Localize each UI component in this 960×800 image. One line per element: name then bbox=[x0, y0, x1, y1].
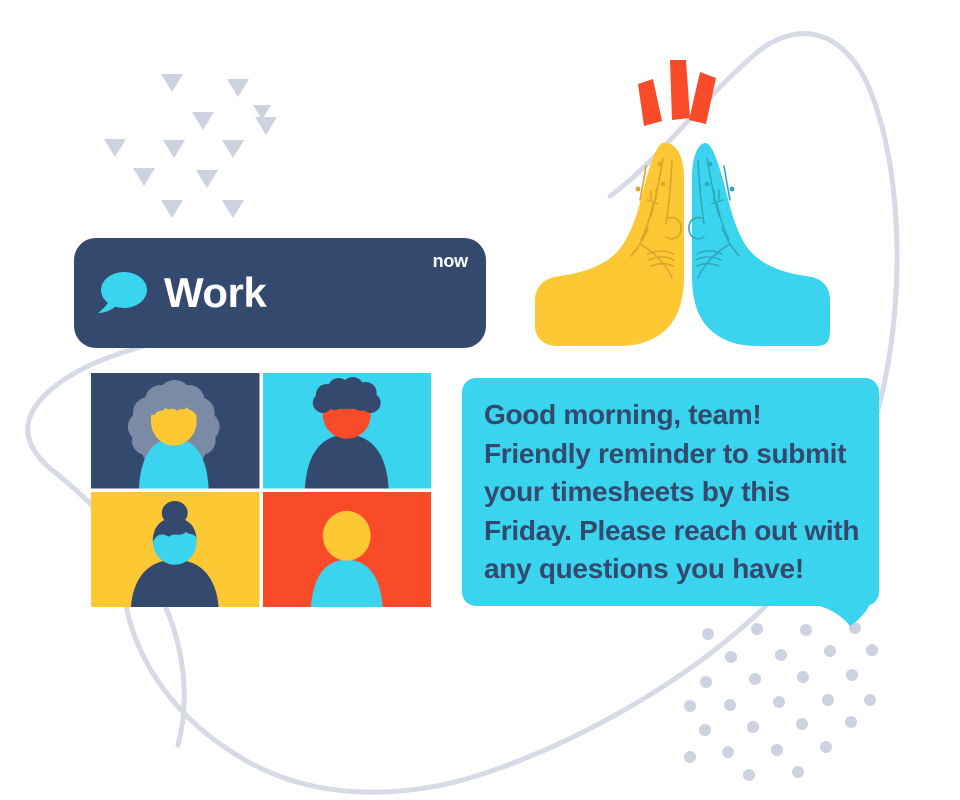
dot bbox=[775, 649, 787, 661]
high-five-hands bbox=[520, 58, 830, 350]
right-hand-icon bbox=[689, 143, 830, 346]
dot bbox=[797, 671, 809, 683]
chevron-icon bbox=[192, 112, 214, 130]
dot bbox=[700, 676, 712, 688]
knuckle-dot bbox=[705, 182, 709, 186]
chevron-icon bbox=[222, 140, 244, 158]
dot bbox=[773, 696, 785, 708]
dot bbox=[749, 673, 761, 685]
chevron-icon bbox=[196, 170, 218, 188]
message-bubble-tail bbox=[812, 580, 882, 628]
notification-timestamp: now bbox=[433, 251, 468, 272]
impact-mark-center bbox=[670, 60, 690, 120]
dot bbox=[845, 716, 857, 728]
chevron-icon bbox=[161, 200, 183, 218]
chevron-cluster-top-left bbox=[104, 74, 277, 218]
dot bbox=[722, 746, 734, 758]
notification-app-name: Work bbox=[164, 264, 266, 322]
dot bbox=[864, 694, 876, 706]
notification-bar[interactable]: Work now bbox=[74, 238, 486, 348]
knuckle-dot bbox=[658, 162, 662, 166]
video-tile-bottom-left[interactable] bbox=[91, 492, 260, 608]
video-tile-top-left[interactable] bbox=[91, 373, 260, 489]
dot bbox=[743, 769, 755, 781]
dot bbox=[725, 651, 737, 663]
knuckle-dot bbox=[636, 187, 641, 192]
dot bbox=[866, 644, 878, 656]
dot bbox=[684, 751, 696, 763]
dot bbox=[699, 724, 711, 736]
dot bbox=[824, 645, 836, 657]
video-tile-bottom-right[interactable] bbox=[263, 492, 432, 608]
dot bbox=[747, 721, 759, 733]
illustration-canvas: Work now bbox=[0, 0, 960, 800]
dot bbox=[684, 700, 696, 712]
hair-bun bbox=[162, 500, 188, 524]
knuckle-dot bbox=[708, 162, 712, 166]
message-text: Good morning, team! Friendly reminder to… bbox=[484, 396, 866, 589]
message-bubble[interactable]: Good morning, team! Friendly reminder to… bbox=[462, 378, 879, 606]
message-line: Friday. Please reach out with bbox=[484, 512, 866, 551]
chevron-icon bbox=[163, 140, 185, 158]
dot bbox=[751, 623, 763, 635]
chevron-icon bbox=[161, 74, 183, 92]
message-line: Friendly reminder to submit bbox=[484, 435, 866, 474]
dot bbox=[796, 718, 808, 730]
video-call-grid[interactable] bbox=[91, 373, 431, 607]
message-line: any questions you have! bbox=[484, 550, 866, 589]
dot bbox=[792, 766, 804, 778]
dot bbox=[702, 628, 714, 640]
dot bbox=[846, 669, 858, 681]
dot bbox=[800, 624, 812, 636]
impact-mark-left bbox=[638, 79, 662, 126]
video-tile-top-right[interactable] bbox=[263, 373, 432, 489]
face bbox=[322, 510, 370, 560]
impact-mark-right bbox=[689, 72, 716, 124]
left-hand-icon bbox=[535, 143, 684, 346]
chevron-icon bbox=[104, 139, 126, 157]
dot-cluster-bottom-right bbox=[684, 622, 878, 781]
dot bbox=[822, 694, 834, 706]
chevron-icon bbox=[227, 79, 249, 97]
knuckle-dot bbox=[730, 187, 735, 192]
knuckle-dot bbox=[661, 182, 665, 186]
dot bbox=[771, 744, 783, 756]
dot bbox=[724, 699, 736, 711]
chat-bubble-icon bbox=[96, 270, 148, 316]
impact-marks-icon bbox=[638, 60, 716, 126]
chevron-icon bbox=[133, 168, 155, 186]
dot bbox=[820, 741, 832, 753]
chevron-icon bbox=[222, 200, 244, 218]
chevron-icon bbox=[255, 117, 277, 135]
message-line: Good morning, team! bbox=[484, 396, 866, 435]
message-line: your timesheets by this bbox=[484, 473, 866, 512]
